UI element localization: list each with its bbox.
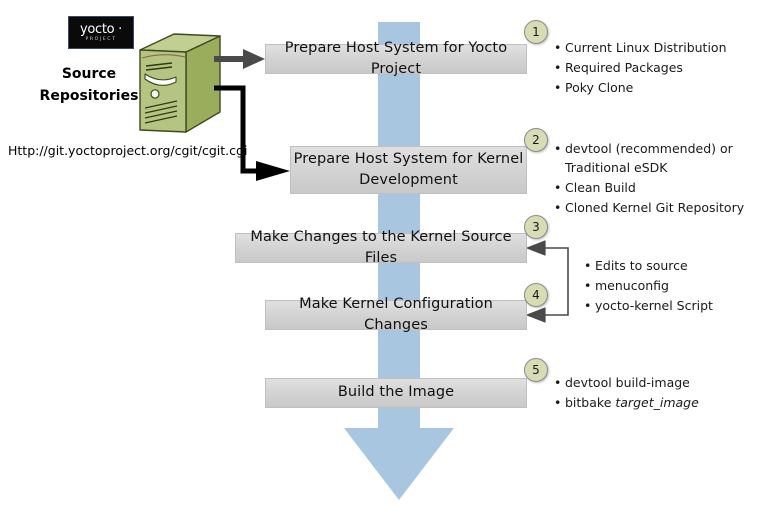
list-item: menuconfig [595, 276, 769, 295]
list-item: Edits to source [595, 256, 769, 275]
step-number-1: 1 [524, 20, 548, 44]
list-item: Poky Clone [565, 78, 761, 97]
logo-subtext: PROJECT [85, 38, 116, 43]
process-box-prepare-host-yocto[interactable]: Prepare Host System for Yocto Project [265, 44, 527, 74]
process-box-prepare-host-kernel[interactable]: Prepare Host System for Kernel Developme… [290, 146, 527, 194]
source-repositories-url: Http://git.yoctoproject.org/cgit/cgit.cg… [8, 143, 247, 158]
process-box-make-config-changes[interactable]: Make Kernel Configuration Changes [265, 300, 527, 330]
process-box-make-source-changes[interactable]: Make Changes to the Kernel Source Files [235, 233, 527, 263]
diagram-canvas: yocto · PROJECT Source Repositories Http… [0, 0, 769, 517]
list-item: devtool (recommended) or Traditional eSD… [565, 139, 761, 177]
step-1-bullet-list: Current Linux Distribution Required Pack… [551, 38, 761, 98]
step-number-2: 2 [524, 128, 548, 152]
list-item: bitbake target_image [565, 393, 761, 412]
step-2-bullet-list: devtool (recommended) or Traditional eSD… [551, 139, 761, 218]
list-item: yocto-kernel Script [595, 296, 769, 315]
process-box-build-image[interactable]: Build the Image [265, 378, 527, 408]
step-number-5: 5 [524, 358, 548, 382]
list-item-emphasis: target_image [615, 395, 698, 410]
step-number-3: 3 [524, 215, 548, 239]
step-number-4: 4 [524, 283, 548, 307]
steps-3-4-bullet-list: Edits to source menuconfig yocto-kernel … [581, 256, 769, 316]
logo-wordmark: yocto · [80, 23, 122, 36]
list-item: devtool build-image [565, 373, 761, 392]
main-flow-arrow-head [344, 428, 454, 500]
step-5-bullet-list: devtool build-image bitbake target_image [551, 373, 761, 413]
yocto-project-logo: yocto · PROJECT [68, 16, 134, 49]
list-item-text: devtool build-image [565, 375, 690, 390]
server-tower-icon [136, 32, 222, 138]
list-item: Cloned Kernel Git Repository [565, 198, 761, 217]
list-item: Required Packages [565, 58, 761, 77]
source-repositories-label: Source Repositories [34, 64, 144, 107]
list-item-text: bitbake [565, 395, 615, 410]
list-item: Current Linux Distribution [565, 38, 761, 57]
list-item: Clean Build [565, 178, 761, 197]
